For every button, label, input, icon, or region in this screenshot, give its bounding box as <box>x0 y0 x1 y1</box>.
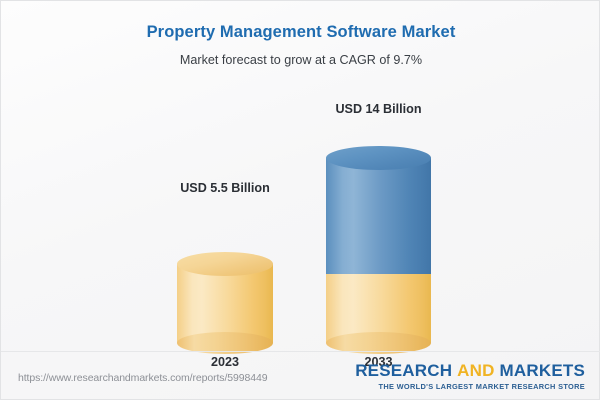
plot-area: USD 5.5 Billion 2023 USD 14 Billion <box>1 81 600 343</box>
bar-value-label-2033: USD 14 Billion <box>335 102 421 116</box>
brand-logo: RESEARCH AND MARKETS THE WORLD'S LARGEST… <box>355 361 585 391</box>
chart-card: Property Management Software Market Mark… <box>0 0 600 400</box>
brand-logo-tagline: THE WORLD'S LARGEST MARKET RESEARCH STOR… <box>355 382 585 391</box>
footer: https://www.researchandmarkets.com/repor… <box>1 352 600 400</box>
bar-segment-growth-2033 <box>326 158 431 274</box>
chart-title: Property Management Software Market <box>1 23 600 42</box>
brand-logo-wordmark: RESEARCH AND MARKETS <box>355 361 585 381</box>
bar-cylinder-2033[interactable] <box>326 158 431 343</box>
bar-value-label-2023: USD 5.5 Billion <box>180 181 270 195</box>
brand-logo-word-markets: MARKETS <box>500 361 585 380</box>
chart-subtitle: Market forecast to grow at a CAGR of 9.7… <box>1 53 600 67</box>
brand-logo-word-research: RESEARCH <box>355 361 452 380</box>
bar-cap-top-2033 <box>326 146 431 170</box>
brand-logo-word-and: AND <box>457 361 494 380</box>
bar-cylinder-2023[interactable] <box>177 264 273 343</box>
bar-cap-top-2023 <box>177 252 273 276</box>
source-url[interactable]: https://www.researchandmarkets.com/repor… <box>18 372 267 384</box>
